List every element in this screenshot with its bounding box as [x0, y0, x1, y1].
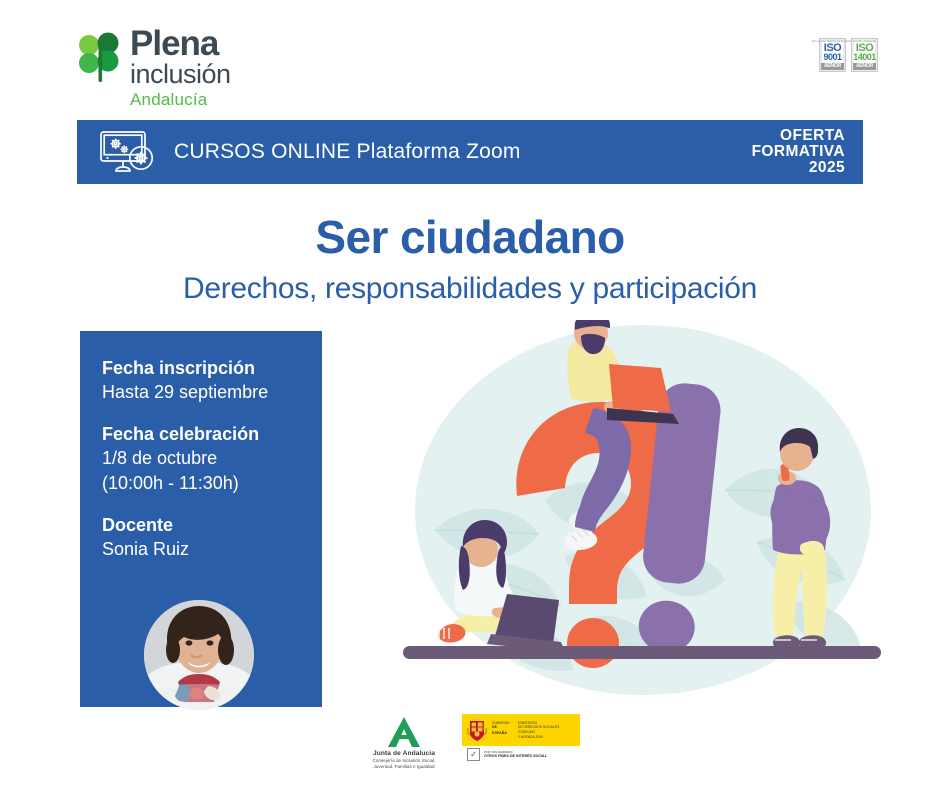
- spacer: [102, 405, 322, 422]
- plena-inclusion-logo: Plena inclusión Andalucía: [78, 28, 328, 110]
- avatar: [144, 600, 254, 710]
- junta-title: Junta de Andalucía: [360, 750, 448, 757]
- iso-14001-body: AENOR: [853, 63, 876, 71]
- gobierno-de-espana-logo: GOBIERNO DE ESPAÑA MINISTERIO DE DERECHO…: [462, 714, 580, 763]
- logo-text-inclusion: inclusión: [130, 60, 330, 88]
- irpf-solidarity-band: ✓ POR SOLIDARIDAD OTROS FINES DE INTERÉS…: [462, 746, 580, 763]
- iso-14001-badge: Gestión Ambiental ISO 14001 AENOR: [851, 38, 878, 72]
- page-subtitle: Derechos, responsabilidades y participac…: [0, 272, 940, 306]
- oferta-formativa-block: OFERTA FORMATIVA 2025: [752, 128, 845, 176]
- value-docente: Sonia Ruiz: [102, 537, 322, 562]
- clover-leaf-icon: [78, 32, 124, 84]
- value-fecha-inscripcion: Hasta 29 septiembre: [102, 380, 322, 405]
- banner-year: 2025: [752, 160, 845, 176]
- certification-badges: Sistema de Gestión de la Calidad ISO 900…: [819, 38, 878, 72]
- value-fecha-celebracion-date: 1/8 de octubre: [102, 446, 322, 471]
- ministerio-name: MINISTERIO DE DERECHOS SOCIALES, CONSUMO…: [518, 721, 575, 740]
- gobierno-yellow-band: GOBIERNO DE ESPAÑA MINISTERIO DE DERECHO…: [462, 714, 580, 746]
- junta-department: Consejería de Inclusión Social, Juventud…: [360, 758, 448, 770]
- monitor-gears-icon: [96, 129, 158, 175]
- ministerio-line2: DE DERECHOS SOCIALES, CONSUMO: [518, 725, 575, 734]
- spacer: [102, 496, 322, 513]
- page-title: Ser ciudadano: [0, 210, 940, 264]
- question-exclamation-people-illustration: [395, 320, 895, 710]
- gobierno-line2: DE ESPAÑA: [492, 725, 507, 734]
- junta-department-line2: Juventud, Familias e Igualdad: [360, 764, 448, 770]
- banner-title: CURSOS ONLINE Plataforma Zoom: [174, 140, 521, 164]
- iso-9001-body: AENOR: [821, 63, 844, 71]
- iso-14001-number: 14001: [853, 53, 876, 62]
- course-banner: CURSOS ONLINE Plataforma Zoom OFERTA FOR…: [77, 120, 863, 184]
- value-fecha-celebracion-time: (10:00h - 11:30h): [102, 471, 322, 496]
- label-fecha-inscripcion: Fecha inscripción: [102, 356, 322, 380]
- banner-oferta: OFERTA: [752, 128, 845, 144]
- junta-andalucia-a-icon: [384, 716, 424, 748]
- irpf-line2: OTROS FINES DE INTERÉS SOCIAL: [484, 754, 547, 759]
- banner-formativa: FORMATIVA: [752, 144, 845, 160]
- footer-logos: Junta de Andalucía Consejería de Inclusi…: [0, 714, 940, 770]
- gobierno-name: GOBIERNO DE ESPAÑA: [492, 721, 512, 740]
- iso-9001-number: 9001: [823, 53, 841, 62]
- ministerio-line3: Y AGENDA 2030: [518, 735, 575, 740]
- irpf-text: POR SOLIDARIDAD OTROS FINES DE INTERÉS S…: [484, 750, 547, 759]
- logo-text-andalucia: Andalucía: [130, 90, 330, 110]
- label-fecha-celebracion: Fecha celebración: [102, 422, 322, 446]
- label-docente: Docente: [102, 513, 322, 537]
- logo-text-plena: Plena: [130, 28, 330, 60]
- check-box-icon: ✓: [467, 748, 480, 761]
- junta-de-andalucia-logo: Junta de Andalucía Consejería de Inclusi…: [360, 714, 448, 770]
- poster-canvas: Plena inclusión Andalucía Sistema de Ges…: [0, 0, 940, 788]
- iso-9001-badge: Sistema de Gestión de la Calidad ISO 900…: [819, 38, 846, 72]
- spain-coat-of-arms-icon: [467, 718, 487, 742]
